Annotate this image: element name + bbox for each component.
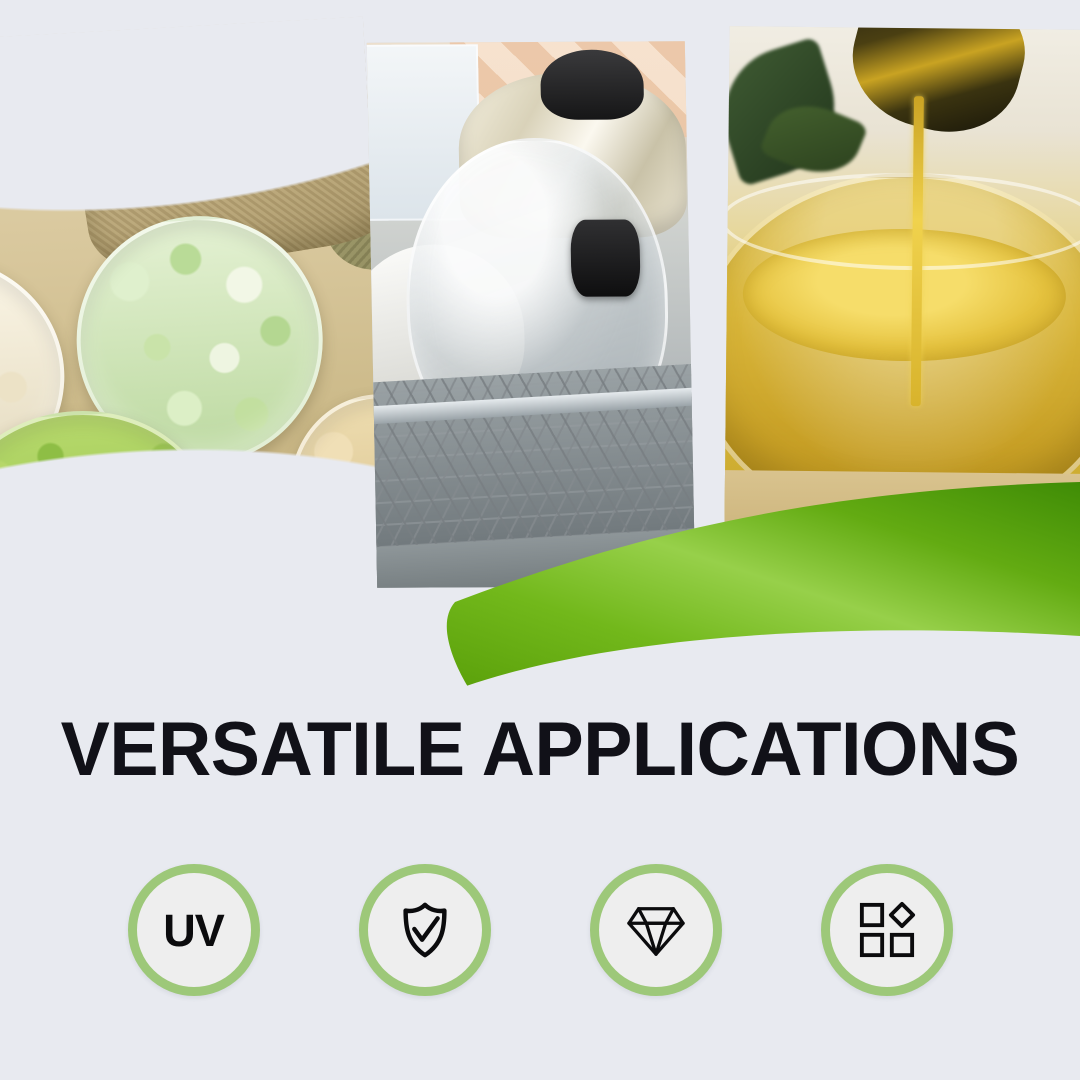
category-grid-icon	[858, 901, 916, 959]
olive-oil-artwork	[724, 26, 1080, 542]
feature-badge-diamond[interactable]	[590, 864, 722, 996]
feature-badge-shield[interactable]	[359, 864, 491, 996]
uv-icon: UV	[163, 908, 224, 953]
shield-check-icon	[394, 899, 456, 961]
feature-badge-category[interactable]	[821, 864, 953, 996]
legumes-artwork	[0, 17, 396, 644]
diamond-icon	[625, 901, 687, 959]
counter-top	[724, 470, 1080, 542]
lid-knob	[570, 220, 640, 297]
page-title: VERSATILE APPLICATIONS	[16, 712, 1064, 788]
image-panel-legumes	[0, 17, 396, 644]
image-panel-dishrack	[367, 41, 695, 588]
feature-icon-row: UV	[0, 864, 1080, 996]
hero-image-band	[0, 0, 1080, 700]
dishrack-artwork	[367, 41, 695, 588]
pot-handle-knob	[540, 49, 644, 120]
feature-badge-uv[interactable]: UV	[128, 864, 260, 996]
poster-canvas: VERSATILE APPLICATIONS UV	[0, 0, 1080, 1080]
image-panel-olive-oil	[724, 26, 1080, 542]
